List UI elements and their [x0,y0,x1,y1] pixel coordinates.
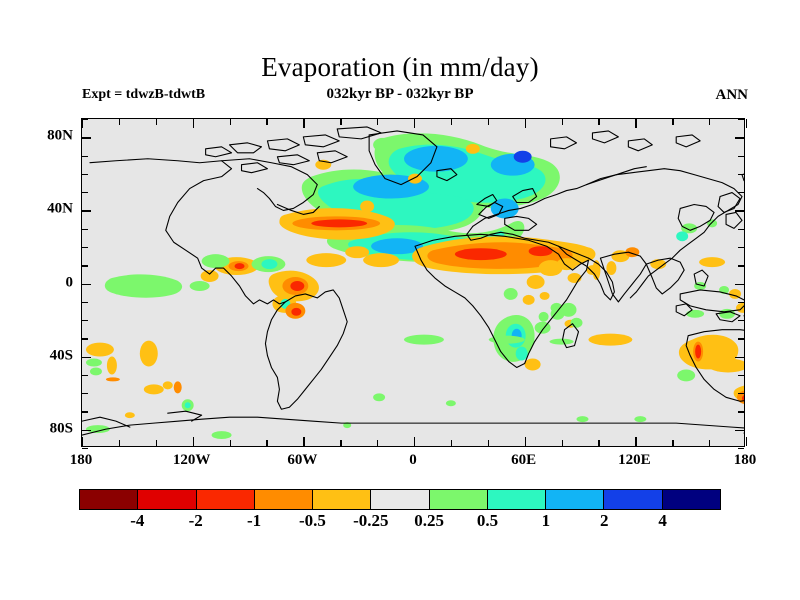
x-tick [82,437,83,446]
colorbar-tick-label: -1 [247,511,261,531]
x-tick [193,119,194,128]
y-tick [738,338,744,339]
x-tick [156,119,157,125]
x-tick [414,437,415,446]
colorbar-segment[interactable] [604,490,662,509]
y-tick [738,302,744,303]
y-tick [82,430,91,431]
y-tick [82,320,88,321]
x-tick [709,440,710,446]
y-tick [735,210,744,211]
x-tick [303,437,304,446]
x-tick [414,119,415,128]
y-tick [82,338,88,339]
world-map [82,119,744,446]
y-tick [738,247,744,248]
x-tick [266,440,267,446]
y-tick [82,375,88,376]
x-tick [303,119,304,128]
x-tick [598,440,599,446]
x-tick [377,440,378,446]
y-tick [82,247,88,248]
y-tick [735,430,744,431]
x-tick [635,119,636,128]
colorbar-tick-label: 1 [542,511,551,531]
colorbar-segment[interactable] [80,490,138,509]
y-tick [82,192,88,193]
x-axis-label: 60W [287,452,317,469]
x-tick [119,119,120,125]
y-tick [738,265,744,266]
y-tick [738,393,744,394]
x-tick [562,440,563,446]
colorbar-tick-label: -2 [189,511,203,531]
y-tick [82,448,88,449]
y-tick [82,156,88,157]
y-tick [82,284,91,285]
x-axis-label: 180 [734,452,757,469]
y-tick [82,393,88,394]
x-tick [193,437,194,446]
x-axis-label: 0 [409,452,417,469]
colorbar-segment[interactable] [663,490,720,509]
y-tick [738,156,744,157]
colorbar-tick-label: -0.5 [299,511,326,531]
y-tick [738,174,744,175]
x-tick [598,119,599,125]
x-tick [635,437,636,446]
y-tick [738,320,744,321]
x-tick [230,119,231,125]
y-tick [738,119,744,120]
x-axis-label: 120E [618,452,651,469]
colorbar-segment[interactable] [546,490,604,509]
x-tick [340,440,341,446]
y-tick [738,229,744,230]
x-tick [746,119,747,128]
colorbar-segment[interactable] [138,490,196,509]
y-tick [82,357,91,358]
x-tick [230,440,231,446]
experiment-label: Expt = tdwzB-tdwtB [82,87,205,103]
y-tick [82,411,88,412]
page-title: Evaporation (in mm/day) [0,52,800,83]
colorbar-segment[interactable] [488,490,546,509]
x-tick [525,119,526,128]
y-tick [82,265,88,266]
x-tick [377,119,378,125]
colorbar-tick-label: 0.25 [414,511,444,531]
x-tick [562,119,563,125]
y-axis-label: 80N [47,128,73,145]
y-tick [82,229,88,230]
season-label: ANN [716,87,749,104]
x-tick [451,440,452,446]
y-tick [82,210,91,211]
x-tick [488,440,489,446]
colorbar-segment[interactable] [371,490,429,509]
colorbar-tick-label: 2 [600,511,609,531]
colorbar-tick-label: -4 [130,511,144,531]
y-axis-label: 80S [50,420,73,437]
x-tick [156,440,157,446]
map-clip [82,119,744,446]
y-axis-label: 40S [50,347,73,364]
y-tick [738,448,744,449]
colorbar-tick-label: -0.25 [353,511,388,531]
y-tick [735,284,744,285]
x-axis-label: 120W [173,452,211,469]
x-tick [82,119,83,128]
x-axis-label: 60E [511,452,536,469]
x-tick [525,437,526,446]
colorbar-segment[interactable] [255,490,313,509]
x-tick [266,119,267,125]
colorbar-segment[interactable] [430,490,488,509]
colorbar-tick-label: 0.5 [477,511,498,531]
x-tick [488,119,489,125]
y-axis-label: 0 [66,274,74,291]
y-tick [82,119,88,120]
y-tick [82,174,88,175]
figure-canvas: Evaporation (in mm/day) 032kyr BP - 032k… [0,0,800,600]
colorbar-segment[interactable] [313,490,371,509]
y-tick [738,411,744,412]
anomaly-shading [86,133,744,439]
x-axis-label: 180 [70,452,93,469]
y-tick [82,302,88,303]
y-axis-label: 40N [47,201,73,218]
x-tick [340,119,341,125]
colorbar[interactable] [79,489,721,510]
y-tick [735,137,744,138]
y-tick [735,357,744,358]
colorbar-segment[interactable] [197,490,255,509]
map-plot-area [81,118,745,447]
x-tick [451,119,452,125]
y-tick [738,375,744,376]
y-tick [738,192,744,193]
x-tick [672,440,673,446]
x-tick [746,437,747,446]
x-tick [672,119,673,125]
y-tick [82,137,91,138]
colorbar-tick-label: 4 [658,511,667,531]
x-tick [709,119,710,125]
x-tick [119,440,120,446]
